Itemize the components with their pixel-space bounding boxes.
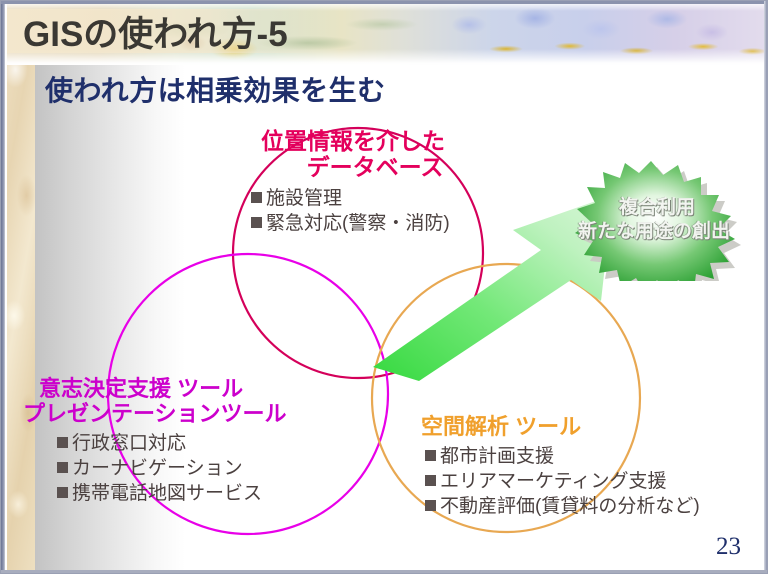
decision-support-heading: 意志決定支援 ツール プレゼンテーションツール: [23, 377, 287, 426]
list-item-label: 緊急対応(警察・消防): [266, 213, 450, 234]
page-number: 23: [716, 533, 741, 561]
database-heading-line1: 位置情報を介した: [261, 128, 445, 154]
list-item: カーナビゲーション: [57, 456, 287, 481]
list-item-label: 不動産評価(賃貸料の分析など): [440, 496, 700, 517]
starburst-callout-shape: [549, 159, 765, 281]
list-item-label: カーナビゲーション: [72, 458, 243, 479]
list-item: 不動産評価(賃貸料の分析など): [425, 494, 700, 519]
spatial-analysis-circle-label: 空間解析 ツール 都市計画支援 エリアマーケティング支援 不動産評価(賃貸料の分…: [421, 415, 700, 519]
database-heading: 位置情報を介した データベース: [233, 129, 473, 181]
decision-heading-line1: 意志決定支援 ツール: [23, 377, 287, 402]
decision-bullet-list: 行政窓口対応 カーナビゲーション 携帯電話地図サービス: [23, 431, 287, 506]
list-item-label: 施設管理: [266, 188, 342, 209]
bullet-square-icon: [251, 217, 262, 228]
database-heading-line2: データベース: [233, 155, 473, 181]
database-bullet-list: 施設管理 緊急対応(警察・消防): [233, 186, 473, 236]
bullet-square-icon: [425, 475, 436, 486]
list-item: 携帯電話地図サービス: [57, 481, 287, 506]
list-item: 行政窓口対応: [57, 431, 287, 456]
slide-subtitle: 使われ方は相乗効果を生む: [45, 69, 386, 109]
slide-title: GISの使われ方-5: [23, 6, 288, 57]
bullet-square-icon: [251, 192, 262, 203]
spatial-heading: 空間解析 ツール: [421, 415, 700, 440]
bullet-square-icon: [57, 437, 68, 448]
list-item: 都市計画支援: [425, 444, 700, 469]
bullet-square-icon: [425, 450, 436, 461]
list-item: 施設管理: [251, 186, 473, 211]
list-item-label: 携帯電話地図サービス: [72, 483, 262, 504]
list-item-label: 行政窓口対応: [72, 433, 186, 454]
list-item-label: エリアマーケティング支援: [440, 471, 666, 492]
list-item-label: 都市計画支援: [440, 446, 554, 467]
presentation-slide: GISの使われ方-5 使われ方は相乗効果を生む: [0, 0, 768, 574]
decision-heading-line2: プレゼンテーションツール: [23, 401, 287, 426]
decision-support-circle-label: 意志決定支援 ツール プレゼンテーションツール 行政窓口対応 カーナビゲーション…: [23, 377, 287, 506]
spatial-bullet-list: 都市計画支援 エリアマーケティング支援 不動産評価(賃貸料の分析など): [421, 444, 700, 519]
bullet-square-icon: [57, 462, 68, 473]
database-circle-label: 位置情報を介した データベース 施設管理 緊急対応(警察・消防): [233, 129, 473, 236]
list-item: エリアマーケティング支援: [425, 469, 700, 494]
bullet-square-icon: [57, 487, 68, 498]
list-item: 緊急対応(警察・消防): [251, 211, 473, 236]
bullet-square-icon: [425, 500, 436, 511]
